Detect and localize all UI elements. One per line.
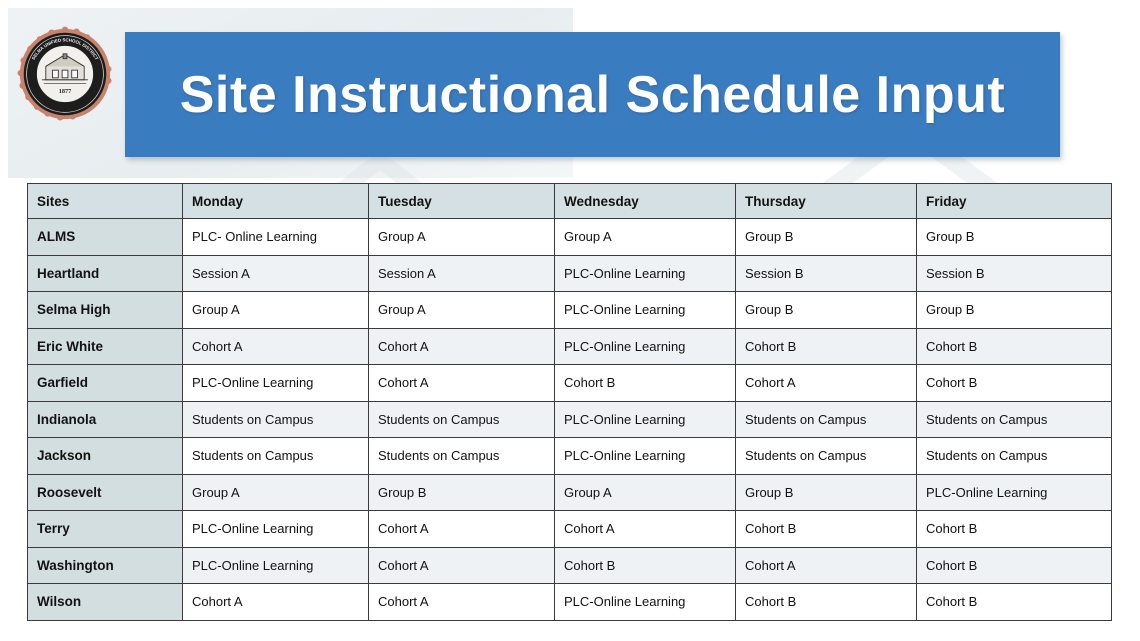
schedule-cell-friday: Cohort B [917,365,1112,402]
schedule-cell-monday: PLC-Online Learning [183,511,369,548]
table-row: ALMSPLC- Online LearningGroup AGroup AGr… [28,219,1112,256]
schedule-cell-tuesday: Session A [369,255,555,292]
schedule-cell-friday: PLC-Online Learning [917,474,1112,511]
schedule-cell-thursday: Students on Campus [736,438,917,475]
schedule-cell-tuesday: Students on Campus [369,401,555,438]
schedule-cell-friday: Group B [917,219,1112,256]
schedule-cell-friday: Cohort B [917,511,1112,548]
table-header-row: Sites Monday Tuesday Wednesday Thursday … [28,184,1112,219]
column-header-tuesday: Tuesday [369,184,555,219]
schedule-cell-monday: PLC-Online Learning [183,547,369,584]
site-name-cell: Garfield [28,365,183,402]
schedule-cell-friday: Cohort B [917,584,1112,621]
site-name-cell: Washington [28,547,183,584]
site-name-cell: Roosevelt [28,474,183,511]
column-header-thursday: Thursday [736,184,917,219]
site-name-cell: ALMS [28,219,183,256]
site-name-cell: Selma High [28,292,183,329]
table-row: GarfieldPLC-Online LearningCohort ACohor… [28,365,1112,402]
schedule-cell-wednesday: PLC-Online Learning [555,438,736,475]
table-row: IndianolaStudents on CampusStudents on C… [28,401,1112,438]
schedule-cell-thursday: Students on Campus [736,401,917,438]
schedule-cell-monday: Session A [183,255,369,292]
title-banner: Site Instructional Schedule Input [125,32,1060,157]
schedule-cell-monday: Cohort A [183,328,369,365]
column-header-monday: Monday [183,184,369,219]
table-row: JacksonStudents on CampusStudents on Cam… [28,438,1112,475]
schedule-cell-wednesday: PLC-Online Learning [555,292,736,329]
schedule-cell-tuesday: Cohort A [369,584,555,621]
svg-text:1877: 1877 [59,88,71,95]
schedule-cell-tuesday: Group A [369,219,555,256]
schedule-cell-friday: Group B [917,292,1112,329]
schedule-cell-monday: Students on Campus [183,401,369,438]
slide-canvas: 1877 SELMA UNIFIED SCHOOL DISTRICT Site … [0,0,1140,641]
column-header-friday: Friday [917,184,1112,219]
schedule-cell-thursday: Cohort B [736,328,917,365]
schedule-cell-wednesday: Cohort B [555,547,736,584]
schedule-cell-tuesday: Cohort A [369,547,555,584]
schedule-cell-wednesday: Cohort B [555,365,736,402]
schedule-cell-thursday: Group B [736,474,917,511]
schedule-cell-wednesday: PLC-Online Learning [555,255,736,292]
column-header-wednesday: Wednesday [555,184,736,219]
schedule-cell-monday: Students on Campus [183,438,369,475]
schedule-cell-tuesday: Group B [369,474,555,511]
site-name-cell: Indianola [28,401,183,438]
table-row: Selma HighGroup AGroup APLC-Online Learn… [28,292,1112,329]
schedule-cell-friday: Cohort B [917,547,1112,584]
schedule-cell-tuesday: Cohort A [369,328,555,365]
schedule-cell-friday: Session B [917,255,1112,292]
schedule-cell-monday: Cohort A [183,584,369,621]
table-row: RooseveltGroup AGroup BGroup AGroup BPLC… [28,474,1112,511]
schedule-cell-monday: PLC-Online Learning [183,365,369,402]
table-body: ALMSPLC- Online LearningGroup AGroup AGr… [28,219,1112,621]
schedule-cell-wednesday: Cohort A [555,511,736,548]
schedule-cell-thursday: Group B [736,292,917,329]
schedule-cell-wednesday: Group A [555,219,736,256]
schedule-cell-monday: Group A [183,474,369,511]
schedule-table: Sites Monday Tuesday Wednesday Thursday … [27,183,1112,621]
schedule-cell-friday: Students on Campus [917,401,1112,438]
schedule-cell-wednesday: PLC-Online Learning [555,584,736,621]
schedule-cell-thursday: Cohort B [736,511,917,548]
table-row: Eric WhiteCohort ACohort APLC-Online Lea… [28,328,1112,365]
schedule-cell-friday: Cohort B [917,328,1112,365]
column-header-sites: Sites [28,184,183,219]
schedule-cell-friday: Students on Campus [917,438,1112,475]
schedule-cell-tuesday: Group A [369,292,555,329]
schedule-cell-thursday: Cohort A [736,365,917,402]
schedule-cell-thursday: Cohort B [736,584,917,621]
site-name-cell: Wilson [28,584,183,621]
table-row: HeartlandSession ASession APLC-Online Le… [28,255,1112,292]
page-title: Site Instructional Schedule Input [180,69,1005,121]
schedule-cell-wednesday: PLC-Online Learning [555,328,736,365]
schedule-cell-tuesday: Students on Campus [369,438,555,475]
schedule-cell-thursday: Session B [736,255,917,292]
schedule-cell-monday: Group A [183,292,369,329]
schedule-cell-tuesday: Cohort A [369,365,555,402]
schedule-cell-thursday: Cohort A [736,547,917,584]
site-name-cell: Terry [28,511,183,548]
schedule-cell-tuesday: Cohort A [369,511,555,548]
table-header: Sites Monday Tuesday Wednesday Thursday … [28,184,1112,219]
schedule-cell-thursday: Group B [736,219,917,256]
site-name-cell: Heartland [28,255,183,292]
table-row: WashingtonPLC-Online LearningCohort ACoh… [28,547,1112,584]
schedule-cell-wednesday: PLC-Online Learning [555,401,736,438]
school-district-seal-icon: 1877 SELMA UNIFIED SCHOOL DISTRICT [17,26,113,122]
table-row: TerryPLC-Online LearningCohort ACohort A… [28,511,1112,548]
site-name-cell: Jackson [28,438,183,475]
schedule-cell-wednesday: Group A [555,474,736,511]
schedule-cell-monday: PLC- Online Learning [183,219,369,256]
table-row: WilsonCohort ACohort APLC-Online Learnin… [28,584,1112,621]
site-name-cell: Eric White [28,328,183,365]
